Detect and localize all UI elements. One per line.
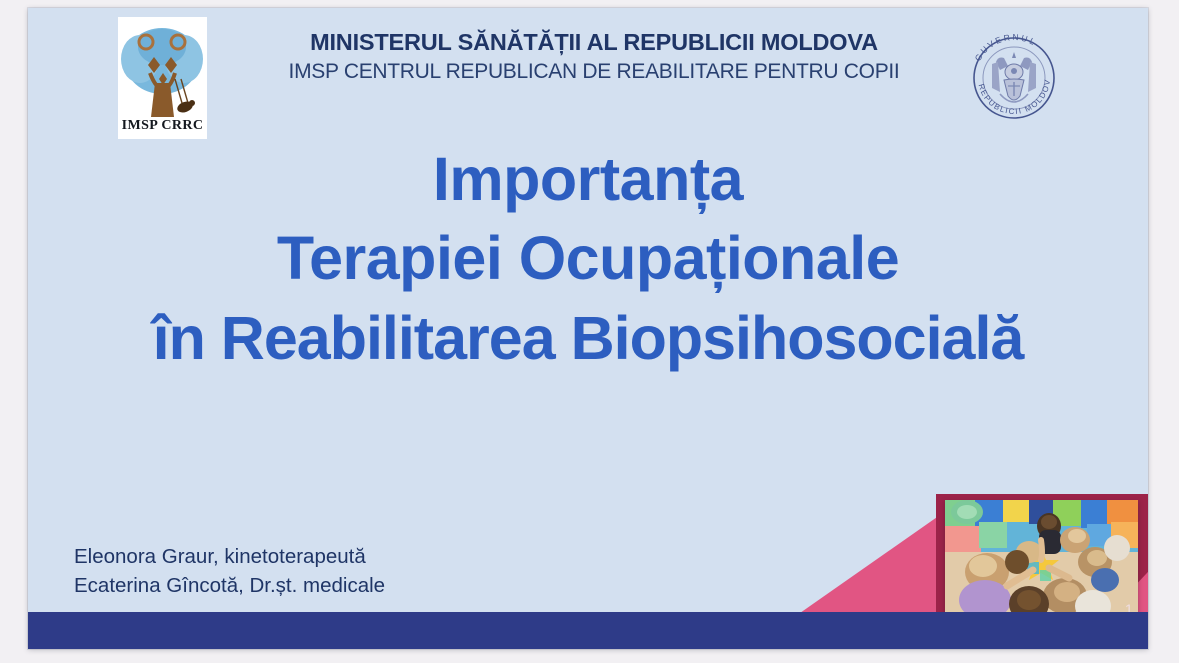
imsp-crrc-logo: IMSP CRRC [118, 17, 207, 139]
presentation-slide: IMSP CRRC MINISTERUL SĂNĂTĂȚII AL REPUBL… [28, 8, 1148, 649]
title-line-2: Terapiei Ocupaționale [28, 219, 1148, 298]
government-seal: GUVERNUL REPUBLICII MOLDOVA [958, 22, 1070, 134]
children-group-puzzle-photo [945, 500, 1138, 621]
government-seal-icon: GUVERNUL REPUBLICII MOLDOVA [958, 22, 1070, 134]
author-line-2: Ecaterina Gîncotă, Dr.șt. medicale [74, 571, 385, 600]
logo-caption: IMSP CRRC [118, 118, 207, 134]
slide-title: Importanța Terapiei Ocupaționale în Reab… [28, 140, 1148, 378]
screenshot-viewport: IMSP CRRC MINISTERUL SĂNĂTĂȚII AL REPUBL… [0, 0, 1179, 663]
title-line-3: în Reabilitarea Biopsihosocială [28, 299, 1148, 378]
title-line-1: Importanța [28, 140, 1148, 219]
slide-header: IMSP CRRC MINISTERUL SĂNĂTĂȚII AL REPUBL… [28, 8, 1148, 138]
author-line-1: Eleonora Graur, kinetoterapeută [74, 542, 385, 571]
organization-header: MINISTERUL SĂNĂTĂȚII AL REPUBLICII MOLDO… [224, 29, 964, 84]
bottom-accent-bar [28, 612, 1148, 649]
children-group-photo [945, 500, 1138, 621]
author-block: Eleonora Graur, kinetoterapeută Ecaterin… [74, 542, 385, 600]
ministry-title: MINISTERUL SĂNĂTĂȚII AL REPUBLICII MOLDO… [224, 29, 964, 57]
center-title: IMSP CENTRUL REPUBLICAN DE REABILITARE P… [224, 59, 964, 84]
